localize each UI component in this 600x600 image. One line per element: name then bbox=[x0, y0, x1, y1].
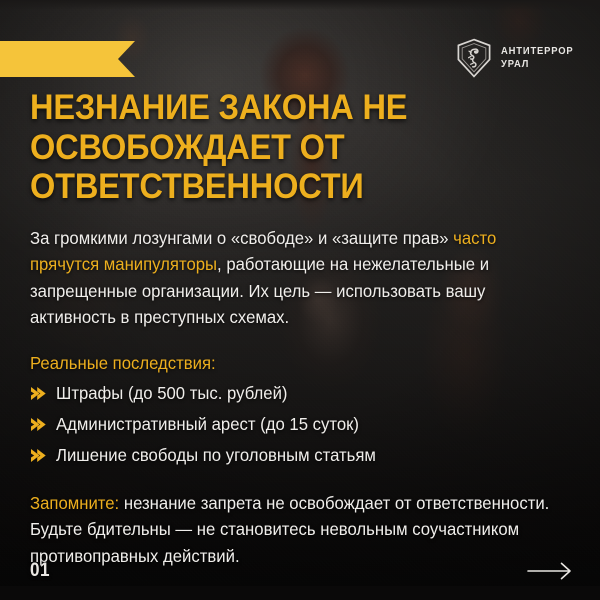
page-title: НЕЗНАНИЕ ЗАКОНА НЕ ОСВОБОЖДАЕТ ОТ ОТВЕТС… bbox=[30, 88, 540, 207]
bottom-edge-bar bbox=[0, 586, 600, 600]
poster-content: НЕЗНАНИЕ ЗАКОНА НЕ ОСВОБОЖДАЕТ ОТ ОТВЕТС… bbox=[30, 88, 578, 569]
chevron-right-icon bbox=[30, 448, 47, 463]
poster-card: АНТИТЕРРОР УРАЛ НЕЗНАНИЕ ЗАКОНА НЕ ОСВОБ… bbox=[0, 0, 600, 600]
intro-paragraph: За громкими лозунгами о «свободе» и «защ… bbox=[30, 225, 553, 331]
brand-logo: АНТИТЕРРОР УРАЛ bbox=[456, 38, 578, 78]
arrow-right-icon[interactable] bbox=[526, 561, 574, 581]
shield-lizard-icon bbox=[456, 38, 492, 78]
chevron-right-icon bbox=[30, 417, 47, 432]
list-item: Штрафы (до 500 тыс. рублей) bbox=[30, 381, 578, 406]
consequences-heading: Реальные последствия: bbox=[30, 353, 553, 374]
closing-paragraph: Запомните: незнание запрета не освобожда… bbox=[30, 490, 553, 570]
list-item: Административный арест (до 15 суток) bbox=[30, 412, 578, 437]
list-item-label: Штрафы (до 500 тыс. рублей) bbox=[56, 381, 287, 406]
intro-paragraph-part1: За громкими лозунгами о «свободе» и «защ… bbox=[30, 228, 453, 248]
top-edge-gradient bbox=[0, 0, 600, 10]
list-item-label: Административный арест (до 15 суток) bbox=[56, 412, 359, 437]
chevron-right-icon bbox=[30, 386, 47, 401]
brand-name-line1: АНТИТЕРРОР bbox=[501, 45, 574, 58]
list-item-label: Лишение свободы по уголовным статьям bbox=[56, 443, 376, 468]
page-number: 01 bbox=[30, 560, 50, 582]
consequences-list: Штрафы (до 500 тыс. рублей) Администрати… bbox=[30, 381, 578, 468]
brand-name-line2: УРАЛ bbox=[501, 58, 574, 71]
closing-paragraph-highlight: Запомните: bbox=[30, 493, 119, 513]
yellow-ribbon-accent bbox=[0, 41, 135, 77]
list-item: Лишение свободы по уголовным статьям bbox=[30, 443, 578, 468]
poster-footer: 01 bbox=[30, 560, 574, 582]
